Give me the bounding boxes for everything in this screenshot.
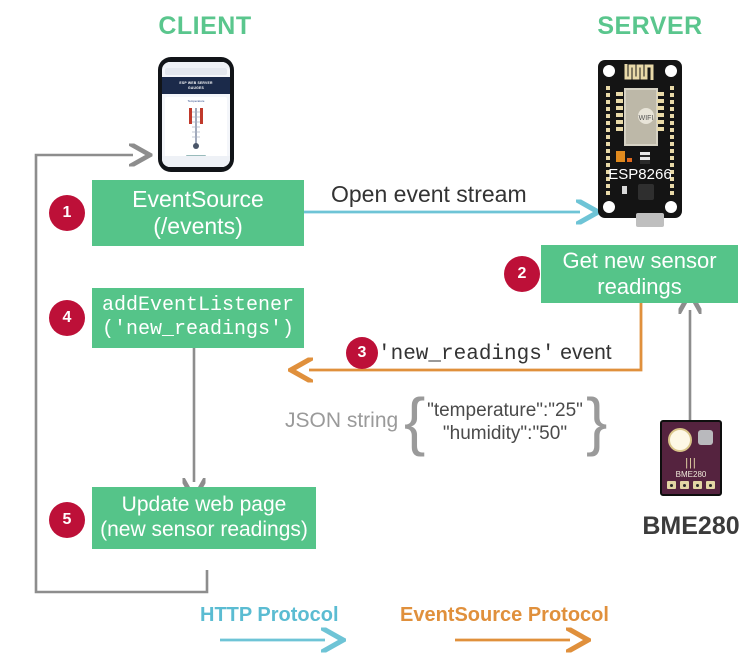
step-1-line1: EventSource [132, 186, 264, 212]
sensor-hole-icon [668, 428, 692, 452]
step-2-badge: 2 [504, 256, 540, 292]
step-2-line2: readings [597, 274, 681, 299]
open-event-stream-label: Open event stream [331, 181, 527, 208]
phone-page-header: ESP WEB SERVER GAUGES [162, 77, 230, 94]
legend-eventsource-label: EventSource Protocol [400, 604, 609, 627]
step-4-box[interactable]: addEventListener ('new_readings') [92, 288, 304, 348]
phone-header-line2: GAUGES [163, 86, 229, 91]
step-3-badge: 3 [346, 337, 378, 369]
bme280-caption: BME280 [635, 512, 747, 541]
new-readings-event-code: 'new_readings' [378, 343, 554, 366]
phone-gauge-card: Temperature [165, 97, 227, 163]
server-heading: SERVER [580, 12, 720, 41]
step-4-line1: addEventListener [102, 294, 294, 317]
json-line-humidity: "humidity":"50" [420, 423, 590, 446]
esp8266-board: WIFI [596, 58, 684, 233]
sensor-chip-icon [698, 430, 713, 445]
sensor-bars-icon: ||| [662, 458, 720, 469]
phone-card-title: Temperature [165, 99, 227, 103]
client-phone-mockup: ESP WEB SERVER GAUGES Temperature [158, 57, 234, 172]
client-heading: CLIENT [140, 12, 270, 41]
bme280-sensor-module: ||| BME280 [660, 420, 722, 496]
sensor-pads [667, 481, 715, 489]
step-4-line2: ('new_readings') [102, 318, 294, 341]
legend-http-label: HTTP Protocol [200, 604, 339, 627]
new-readings-event-word: event [554, 341, 611, 364]
thermometer-icon [165, 104, 227, 154]
sensor-board-label: BME280 [662, 470, 720, 479]
svg-text:ESP8266: ESP8266 [608, 166, 671, 183]
phone-url-bar [165, 68, 227, 75]
step-1-badge: 1 [49, 195, 85, 231]
json-string-label: JSON string [285, 409, 398, 433]
step-2-box[interactable]: Get new sensor readings [541, 245, 738, 303]
step-5-badge: 5 [49, 502, 85, 538]
step-4-badge: 4 [49, 300, 85, 336]
new-readings-event-label: 'new_readings' event [378, 341, 612, 366]
svg-text:WIFI: WIFI [639, 115, 654, 122]
step-1-line2: (/events) [153, 213, 242, 239]
phone-nav-bar [162, 156, 230, 167]
brace-close: } [586, 396, 607, 447]
step-2-line1: Get new sensor [562, 248, 716, 273]
step-1-box[interactable]: EventSource (/events) [92, 180, 304, 246]
phone-screen: ESP WEB SERVER GAUGES Temperature [162, 62, 230, 167]
step-5-line1: Update web page [122, 493, 287, 516]
step-5-line2: (new sensor readings) [100, 518, 308, 541]
step-5-box[interactable]: Update web page (new sensor readings) [92, 487, 316, 549]
json-payload: "temperature":"25" "humidity":"50" [420, 400, 590, 446]
json-line-temperature: "temperature":"25" [420, 400, 590, 423]
